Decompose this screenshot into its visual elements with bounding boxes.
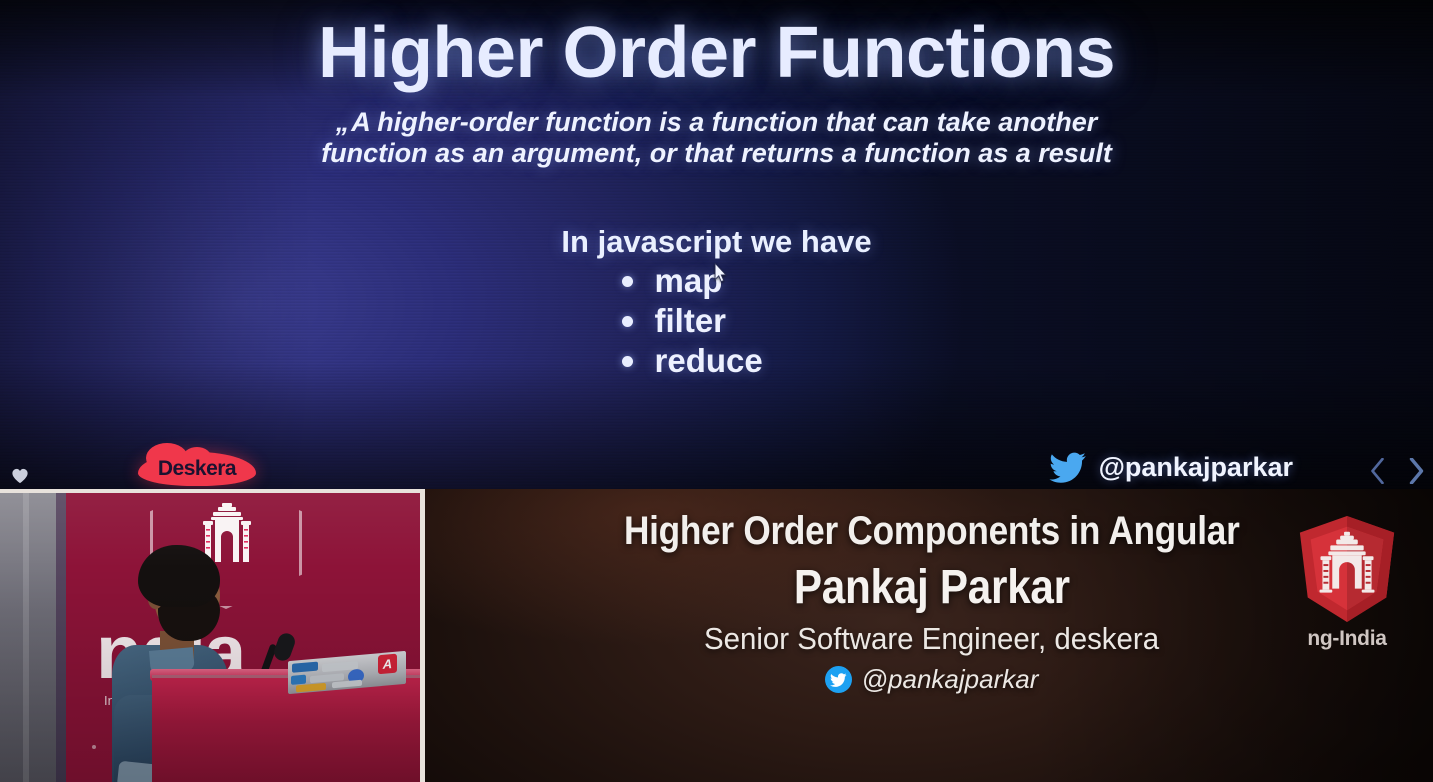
ng-india-label: ng-India: [1307, 627, 1386, 651]
bullet-dot-icon: [622, 316, 633, 327]
slide-title: Higher Order Functions: [0, 12, 1433, 94]
bullet-dot-icon: [622, 276, 633, 287]
slide-twitter-handle-block: @pankajparkar: [1049, 452, 1293, 483]
slide-twitter-handle: @pankajparkar: [1099, 452, 1293, 483]
presentation-slide: Higher Order Functions „A higher-order f…: [0, 0, 1433, 489]
list-item: reduce: [622, 342, 812, 380]
slide-quote: „A higher-order function is a function t…: [317, 107, 1117, 170]
slide-quote-text: A higher-order function is a function th…: [321, 107, 1112, 168]
speaker-twitter-handle: @pankajparkar: [862, 664, 1039, 695]
speaker-handle-row: @pankajparkar: [825, 664, 1039, 695]
ng-india-logo: ng-India: [1281, 513, 1413, 665]
broadcast-screen: Higher Order Functions „A higher-order f…: [0, 0, 1433, 782]
speaker-hair: [138, 545, 220, 607]
chevron-right-icon[interactable]: [1408, 458, 1425, 484]
speaker-name: Pankaj Parkar: [793, 560, 1069, 615]
laptop-sticker: [296, 683, 326, 693]
angular-sticker-icon: A: [378, 654, 397, 675]
laptop-sticker: [291, 675, 306, 685]
bullet-label: reduce: [655, 342, 763, 380]
heart-icon[interactable]: [10, 466, 30, 484]
deskera-logo: Deskera: [138, 452, 256, 486]
bullet-dot-icon: [622, 356, 633, 367]
slide-lead-text: In javascript we have: [0, 224, 1433, 260]
laptop-sticker: [332, 680, 362, 689]
mouse-cursor-arrow: [714, 263, 727, 283]
twitter-bird-icon: [1049, 452, 1087, 483]
list-item: filter: [622, 302, 812, 340]
bullet-label: map: [655, 262, 723, 300]
quote-mark-icon: „: [336, 107, 348, 137]
chevron-left-icon[interactable]: [1369, 458, 1386, 484]
bullet-label: filter: [655, 302, 727, 340]
deskera-logo-text: Deskera: [138, 452, 256, 486]
twitter-bird-icon: [825, 666, 852, 693]
speaker-video-panel[interactable]: ndia India A: [0, 489, 425, 782]
talk-title: Higher Order Components in Angular: [624, 509, 1240, 554]
speaker-role: Senior Software Engineer, deskera: [704, 621, 1159, 657]
laptop-sticker: [292, 662, 318, 673]
angular-sticker-text: A: [378, 654, 397, 675]
slide-navigation[interactable]: [1369, 458, 1425, 484]
ng-india-shield-icon: [1293, 513, 1401, 625]
